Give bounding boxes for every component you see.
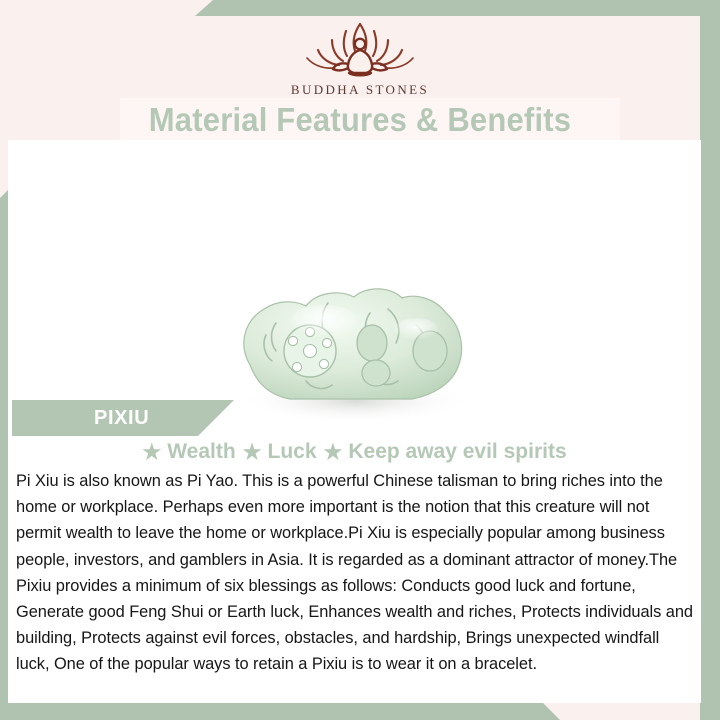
lotus-meditation-icon [285,18,435,80]
benefit-item-luck: ★ Luck [243,440,317,464]
benefit-label: Wealth [167,440,235,464]
benefit-label: Luck [268,440,317,464]
description-text: Pi Xiu is also known as Pi Yao. This is … [16,468,694,678]
star-icon: ★ [243,442,262,463]
brand-wordmark: BUDDHA STONES [0,82,720,98]
decorative-bottom-band [0,700,560,720]
pixiu-jade-carving-icon [220,273,490,433]
benefit-item-keep-away-evil-spirits: ★ Keep away evil spirits [324,440,567,464]
brand-logo: BUDDHA STONES [0,18,720,98]
page-title: Material Features & Benefits [22,100,699,140]
benefit-label: Keep away evil spirits [348,440,566,464]
decorative-right-strip [700,0,720,720]
infographic-page: BUDDHA STONES Material Features & Benefi… [0,0,720,720]
benefit-item-wealth: ★ Wealth [142,440,235,464]
content-panel: PIXIU ★ Wealth ★ Luck ★ Keep away evil s… [8,140,701,703]
pixiu-banner-label: PIXIU [94,407,149,430]
pixiu-banner: PIXIU [12,400,234,436]
decorative-top-band [195,0,720,16]
benefits-row: ★ Wealth ★ Luck ★ Keep away evil spirits [8,440,701,464]
star-icon: ★ [142,442,161,463]
star-icon: ★ [324,442,343,463]
